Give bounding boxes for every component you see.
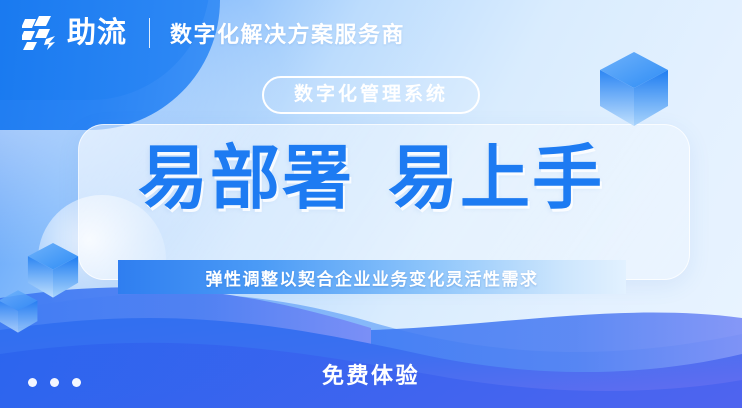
cube-bottom-left-icon (0, 288, 42, 336)
brand-tagline: 数字化解决方案服务商 (170, 17, 405, 49)
subtitle-text: 弹性调整以契合企业业务变化灵活性需求 (206, 265, 539, 290)
headline-part-1: 易部署 (138, 139, 354, 217)
carousel-dot-3[interactable] (72, 378, 81, 387)
page-title: 易部署易上手 (0, 143, 742, 213)
brand-name: 助流 (67, 19, 127, 48)
free-trial-label[interactable]: 免费体验 (322, 363, 420, 388)
lightning-flow-logo-icon (22, 15, 60, 51)
free-trial-cta[interactable]: 免费体验 (0, 358, 742, 390)
system-badge-label: 数字化管理系统 (294, 83, 448, 107)
header-divider (149, 18, 150, 48)
headline-part-2: 易上手 (388, 139, 604, 217)
system-badge: 数字化管理系统 (262, 76, 480, 114)
promo-banner: 助流 数字化解决方案服务商 数字化管理系统 易部署易上手 弹性调整以契合企业业务… (0, 0, 742, 408)
subtitle-ribbon: 弹性调整以契合企业业务变化灵活性需求 (118, 260, 626, 294)
banner-header: 助流 数字化解决方案服务商 (0, 0, 742, 66)
carousel-dot-2[interactable] (50, 378, 59, 387)
carousel-pagination[interactable] (28, 378, 81, 387)
carousel-dot-1[interactable] (28, 378, 37, 387)
